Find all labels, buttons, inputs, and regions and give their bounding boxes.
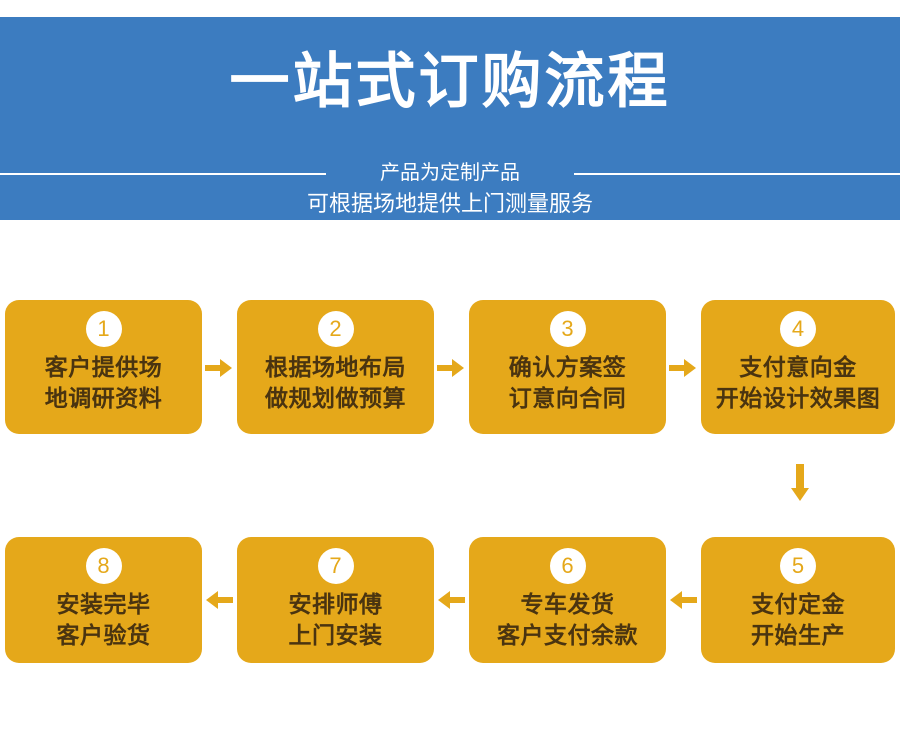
step-label: 安排师傅 上门安装 [289, 589, 383, 651]
flow-step-7[interactable]: 7 安排师傅 上门安装 [237, 537, 434, 663]
flow-step-1[interactable]: 1 客户提供场 地调研资料 [5, 300, 202, 434]
order-process-flowchart: 1 客户提供场 地调研资料 2 根据场地布局 做规划做预算 3 确认方案签 订意… [0, 0, 900, 737]
step-number-badge: 6 [550, 548, 586, 584]
arrow-right-icon [668, 356, 698, 380]
step-number-badge: 7 [318, 548, 354, 584]
step-label: 专车发货 客户支付余款 [497, 589, 638, 651]
arrow-down-icon [788, 463, 812, 503]
step-label: 支付定金 开始生产 [751, 589, 845, 651]
arrow-right-icon [436, 356, 466, 380]
step-label: 根据场地布局 做规划做预算 [265, 352, 406, 414]
step-number-badge: 5 [780, 548, 816, 584]
step-number-badge: 3 [550, 311, 586, 347]
step-label: 客户提供场 地调研资料 [45, 352, 163, 414]
step-number-badge: 1 [86, 311, 122, 347]
flow-step-8[interactable]: 8 安装完毕 客户验货 [5, 537, 202, 663]
flow-step-2[interactable]: 2 根据场地布局 做规划做预算 [237, 300, 434, 434]
flow-step-5[interactable]: 5 支付定金 开始生产 [701, 537, 895, 663]
step-number-badge: 2 [318, 311, 354, 347]
step-number-badge: 8 [86, 548, 122, 584]
step-label: 安装完毕 客户验货 [57, 589, 151, 651]
arrow-right-icon [204, 356, 234, 380]
arrow-left-icon [436, 588, 466, 612]
arrow-left-icon [668, 588, 698, 612]
step-number-badge: 4 [780, 311, 816, 347]
step-label: 确认方案签 订意向合同 [509, 352, 627, 414]
arrow-left-icon [204, 588, 234, 612]
flow-step-4[interactable]: 4 支付意向金 开始设计效果图 [701, 300, 895, 434]
step-label: 支付意向金 开始设计效果图 [716, 352, 881, 414]
flow-step-6[interactable]: 6 专车发货 客户支付余款 [469, 537, 666, 663]
flow-step-3[interactable]: 3 确认方案签 订意向合同 [469, 300, 666, 434]
